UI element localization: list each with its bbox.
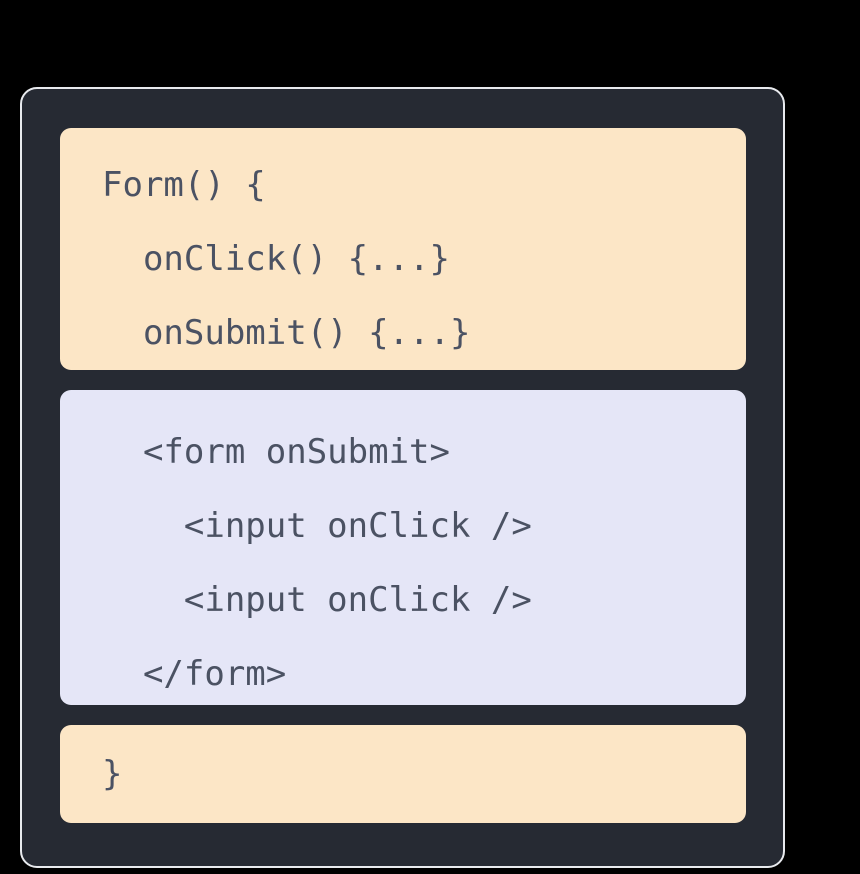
code-line: <form onSubmit> <box>60 415 746 489</box>
code-panel-component-header: Form() { onClick() {...} onSubmit() {...… <box>60 128 746 370</box>
diagram-canvas: Form() { onClick() {...} onSubmit() {...… <box>0 0 860 874</box>
code-line: onClick() {...} <box>60 222 746 296</box>
code-panel-component-footer: } <box>60 725 746 823</box>
code-panel-markup: <form onSubmit> <input onClick /> <input… <box>60 390 746 705</box>
code-line: } <box>60 737 746 811</box>
code-card: Form() { onClick() {...} onSubmit() {...… <box>20 87 785 868</box>
code-line: <input onClick /> <box>60 563 746 637</box>
code-line: <input onClick /> <box>60 489 746 563</box>
code-line: Form() { <box>60 148 746 222</box>
code-line: </form> <box>60 637 746 705</box>
code-line: onSubmit() {...} <box>60 296 746 370</box>
